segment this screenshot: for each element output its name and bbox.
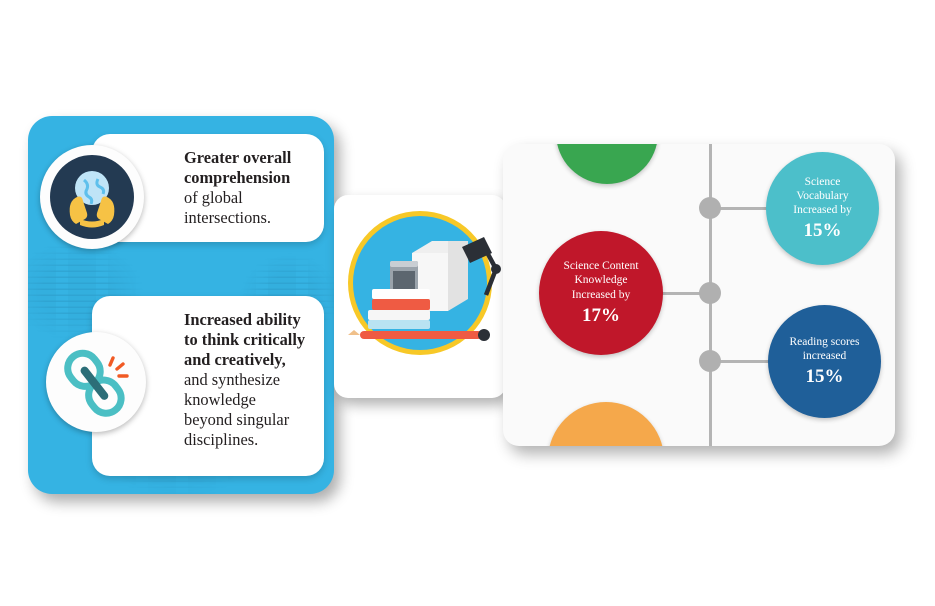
benefit-2-heading-line-1: Increased ability (184, 310, 314, 330)
study-desk-card[interactable] (334, 195, 506, 398)
bubble-teal-value: 15% (804, 220, 842, 242)
bubble-red-label: Science Content Knowledge Increased by (563, 259, 638, 301)
bubble-blue-value: 15% (806, 366, 844, 388)
desk-lamp-books-laptop-icon (334, 203, 506, 383)
junction-dot-middle[interactable] (699, 282, 721, 304)
bubble-red-value: 17% (582, 305, 620, 327)
benefit-2-heading-line-2: to think critically (184, 330, 314, 350)
benefit-2-body-line-2: knowledge (184, 390, 314, 410)
junction-dot-top[interactable] (699, 197, 721, 219)
bubble-green-value: 33% (587, 144, 627, 145)
benefit-2-body-line-4: disciplines. (184, 430, 314, 450)
bubble-teal-label-line-3: Increased by (793, 203, 851, 217)
bubble-science-vocabulary[interactable]: Science Vocabulary Increased by 15% (766, 152, 879, 265)
bubble-red-label-line-2: Knowledge (563, 273, 638, 287)
benefit-2-heading-line-3: and creatively, (184, 350, 314, 370)
benefit-panel-1-text: Greater overall comprehension of global … (184, 148, 314, 228)
bubble-teal-label: Science Vocabulary Increased by (793, 175, 851, 217)
bubble-red-label-line-1: Science Content (563, 259, 638, 273)
junction-dot-bottom[interactable] (699, 350, 721, 372)
benefit-1-heading-line-2: comprehension (184, 168, 314, 188)
infographic-stage: Greater overall comprehension of global … (0, 0, 935, 606)
bubble-blue-label-line-2: increased (790, 349, 860, 363)
benefit-2-body-line-3: beyond singular (184, 410, 314, 430)
bubble-mathematics[interactable]: Mathematics (548, 402, 664, 446)
broken-chain-link-icon (46, 332, 146, 432)
benefit-2-body-line-1: and synthesize (184, 370, 314, 390)
globe-in-hands-icon (40, 145, 144, 249)
bubble-red-label-line-3: Increased by (563, 288, 638, 302)
outcomes-chart-card[interactable]: 33% Science Content Knowledge Increased … (503, 144, 895, 446)
benefit-1-body-line-1: of global (184, 188, 314, 208)
bubble-green[interactable]: 33% (556, 144, 658, 184)
bubble-blue-label-line-1: Reading scores (790, 335, 860, 349)
bubble-reading-scores[interactable]: Reading scores increased 15% (768, 305, 881, 418)
bubble-teal-label-line-1: Science (793, 175, 851, 189)
benefit-panel-2-text: Increased ability to think critically an… (184, 310, 314, 450)
bubble-teal-label-line-2: Vocabulary (793, 189, 851, 203)
benefit-1-body-line-2: intersections. (184, 208, 314, 228)
bubble-blue-label: Reading scores increased (790, 335, 860, 363)
bubble-science-content-knowledge[interactable]: Science Content Knowledge Increased by 1… (539, 231, 663, 355)
benefit-1-heading-line-1: Greater overall (184, 148, 314, 168)
